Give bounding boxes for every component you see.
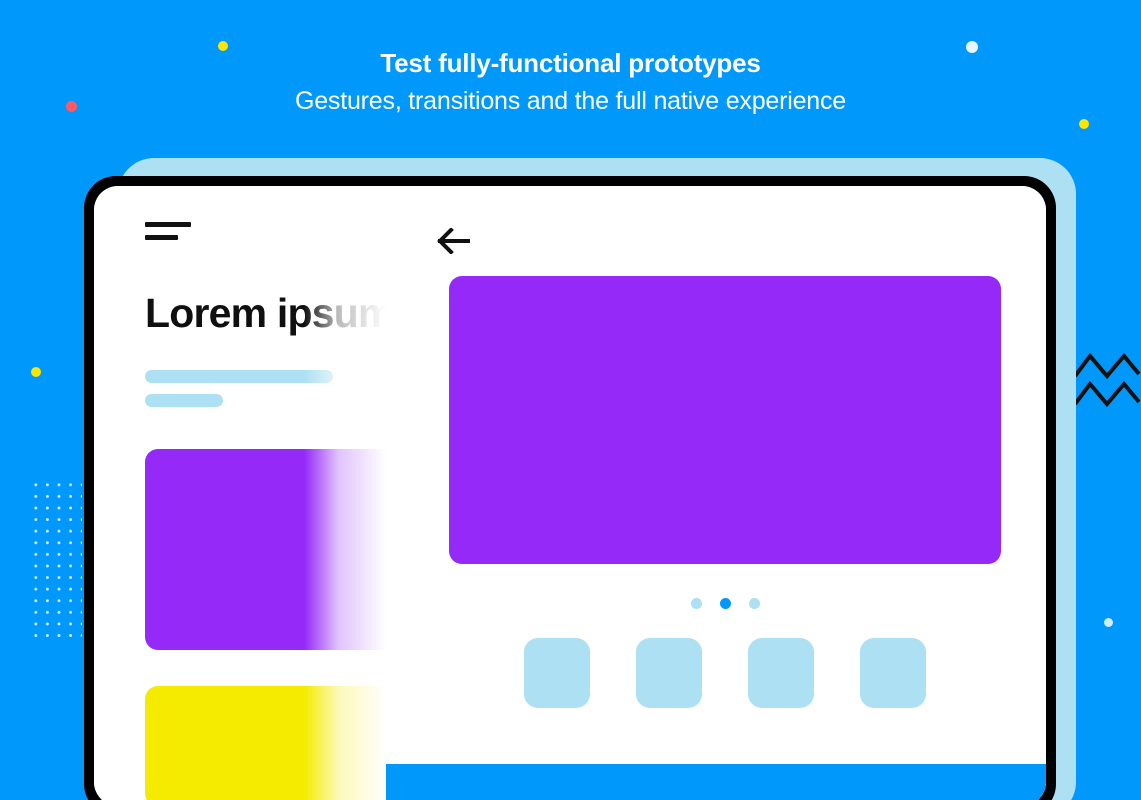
page-subtitle: Gestures, transitions and the full nativ…: [0, 85, 1141, 118]
arrow-left-icon[interactable]: [437, 228, 470, 254]
dot-grid-pattern: [30, 479, 82, 637]
pager-dot-3[interactable]: [749, 598, 760, 609]
pager-dot-2[interactable]: [720, 598, 731, 609]
pager-dot-1[interactable]: [691, 598, 702, 609]
yellow-dot-mid-left: [31, 367, 41, 377]
tile-2[interactable]: [636, 638, 702, 708]
page-title: Test fully-functional prototypes: [0, 48, 1141, 78]
device-screen: Lorem ipsum dolor sit: [94, 186, 1046, 800]
pale-dot-lower-right: [1104, 618, 1113, 627]
right-panel-body: [386, 186, 1046, 764]
skeleton-line-long: [145, 370, 333, 383]
tile-row: [449, 638, 1001, 708]
left-panel: Lorem ipsum dolor sit: [94, 186, 386, 800]
headline-block: Test fully-functional prototypes Gesture…: [0, 48, 1141, 118]
device-frame: Lorem ipsum dolor sit: [84, 176, 1056, 800]
tile-3[interactable]: [748, 638, 814, 708]
skeleton-line-short: [145, 394, 223, 407]
pagination-dots[interactable]: [449, 598, 1001, 609]
left-purple-card[interactable]: [145, 449, 397, 650]
skeleton-text-group: [145, 370, 386, 407]
bottom-bar: [386, 764, 1046, 800]
promo-canvas: Test fully-functional prototypes Gesture…: [0, 0, 1141, 800]
yellow-dot-upper-right: [1079, 119, 1089, 129]
hamburger-menu-icon[interactable]: [145, 222, 191, 242]
right-panel: [386, 186, 1046, 800]
hero-card[interactable]: [449, 276, 1001, 564]
tile-4[interactable]: [860, 638, 926, 708]
left-yellow-card[interactable]: [145, 686, 397, 800]
zigzag-lower: [1073, 378, 1141, 414]
tile-1[interactable]: [524, 638, 590, 708]
left-panel-title: Lorem ipsum dolor sit: [145, 290, 386, 337]
